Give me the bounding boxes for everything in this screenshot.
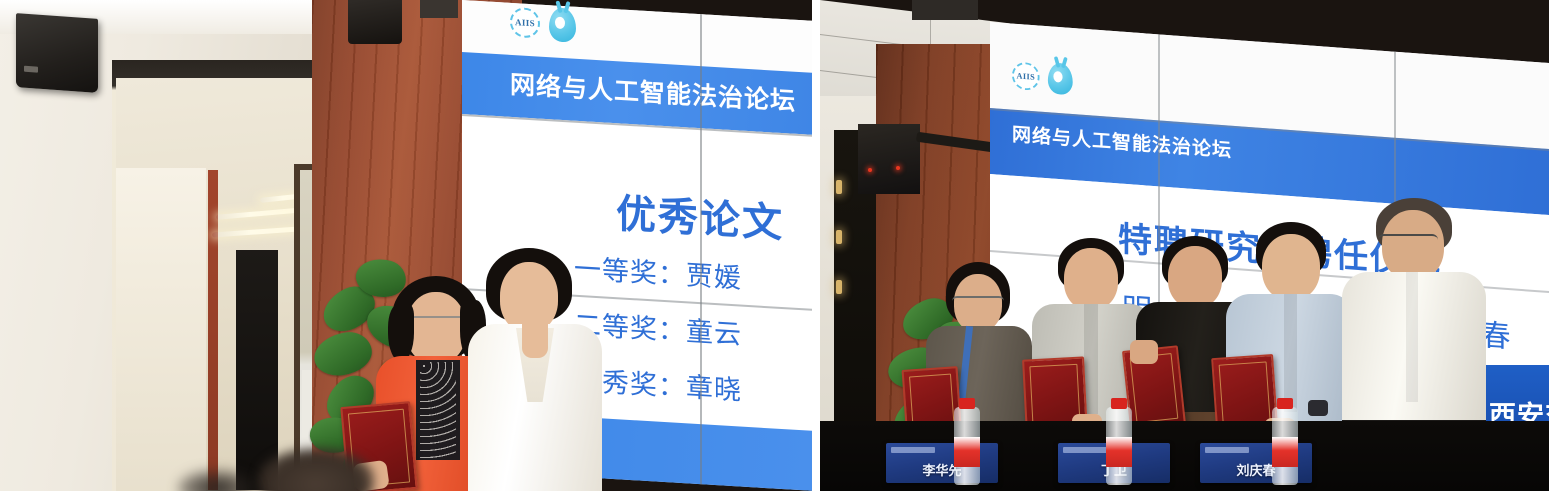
screen-panel-seam	[700, 14, 702, 484]
left-corridor	[116, 78, 336, 491]
nameplate-logo	[1063, 447, 1107, 453]
right-photograph: AIIS 网络与人工智能法治论坛 特聘研究员聘任仪式 明 学尧 李丽敏 京春 西…	[820, 0, 1549, 491]
aiis-logo: AIIS	[510, 5, 576, 43]
patterned-blouse	[420, 362, 456, 458]
bottom-white-strip	[0, 491, 1549, 499]
photo-pair-stage: AIIS 网络与人工智能法治论坛 优秀论文 一等奖：贾媛 二等奖：童云 优秀奖：…	[0, 0, 1549, 499]
door-light-icon	[836, 180, 842, 194]
corridor-wall	[116, 168, 206, 491]
ceiling-vent-icon	[420, 0, 458, 18]
aiis-blob-icon	[1048, 62, 1073, 95]
ceiling-speaker-icon	[912, 0, 978, 20]
face	[500, 262, 558, 332]
water-bottle	[1106, 407, 1132, 485]
aiis-gear-icon: AIIS	[1012, 61, 1040, 91]
nameplate: 李华先	[886, 443, 998, 483]
nameplate-text: 李华先	[886, 460, 998, 479]
person-woman-white-jacket	[466, 248, 606, 491]
water-bottle	[1272, 407, 1298, 485]
photo-divider	[812, 0, 820, 499]
wristwatch-icon	[1308, 400, 1328, 416]
wall-speaker-icon	[16, 13, 98, 93]
neck	[522, 324, 548, 358]
door-light-icon	[836, 230, 842, 244]
wall-equipment-box	[858, 124, 920, 194]
face	[406, 292, 466, 364]
aiis-gear-icon: AIIS	[510, 7, 540, 39]
hair-side	[388, 304, 414, 362]
aiis-blob-icon	[549, 7, 576, 43]
nameplate-logo	[1205, 447, 1249, 453]
aiis-logo: AIIS	[1012, 60, 1073, 96]
ceiling-speaker-icon	[348, 0, 402, 44]
glasses-icon	[1378, 234, 1438, 246]
water-bottle	[954, 407, 980, 485]
glasses-icon	[952, 296, 1004, 306]
door-light-icon	[836, 280, 842, 294]
left-photograph: AIIS 网络与人工智能法治论坛 优秀论文 一等奖：贾媛 二等奖：童云 优秀奖：…	[0, 0, 812, 491]
nameplate-logo	[891, 447, 935, 453]
front-table: 李华先 丁卫 刘庆春	[820, 421, 1549, 491]
corridor-dark-door	[236, 250, 278, 490]
